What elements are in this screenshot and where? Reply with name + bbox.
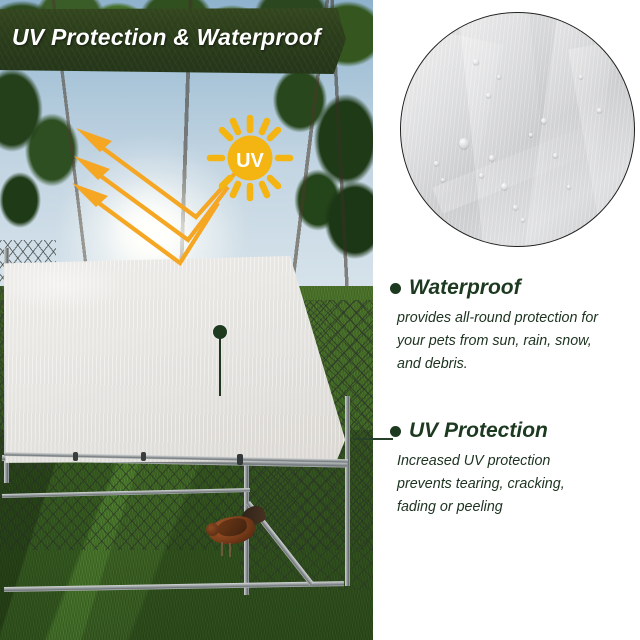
- tarp-clip-2: [141, 452, 146, 461]
- feature-uv-protection-line-3: fading or peeling: [397, 496, 640, 519]
- water-droplet: [541, 118, 547, 124]
- feature-uv-protection-line-1: Increased UV protection: [397, 450, 640, 473]
- feature-waterproof: Waterproof provides all-round protection…: [373, 276, 640, 376]
- water-droplet: [529, 133, 533, 137]
- product-photo: UV UV Protection & Waterproof: [0, 0, 373, 640]
- frame-post-right: [345, 396, 350, 586]
- callout-leader-uv: [353, 438, 393, 440]
- water-droplet: [459, 138, 469, 149]
- sun-icon: UV: [210, 118, 290, 198]
- feature-uv-protection-header: UV Protection: [373, 419, 640, 443]
- water-droplet: [441, 178, 445, 182]
- water-droplet: [597, 108, 602, 113]
- bullet-icon: [390, 426, 401, 437]
- water-droplet: [567, 185, 571, 189]
- feature-waterproof-body: provides all-round protection for your p…: [373, 307, 640, 376]
- water-droplet: [501, 183, 508, 190]
- chicken: [205, 505, 263, 553]
- tarp-clip-1: [73, 452, 78, 461]
- chicken-leg-left: [221, 542, 223, 556]
- water-droplet: [479, 173, 484, 178]
- waterproof-fabric-swatch: [400, 12, 635, 247]
- feature-uv-protection-title: UV Protection: [409, 419, 548, 443]
- callout-leader-tarp: [219, 338, 221, 396]
- tarp-clip-3: [237, 454, 243, 465]
- feature-uv-protection-body: Increased UV protection prevents tearing…: [373, 450, 640, 519]
- chicken-head: [206, 523, 219, 536]
- water-droplet: [489, 155, 495, 161]
- water-droplet: [513, 205, 518, 210]
- uv-arrow-heads: [72, 128, 112, 207]
- feature-waterproof-line-1: provides all-round protection for: [397, 307, 640, 330]
- chicken-leg-right: [229, 543, 231, 557]
- water-droplet: [521, 218, 525, 222]
- water-droplet: [434, 161, 439, 166]
- feature-uv-protection: UV Protection Increased UV protection pr…: [373, 419, 640, 519]
- feature-uv-protection-line-2: prevents tearing, cracking,: [397, 473, 640, 496]
- callout-dot-tarp: [213, 325, 227, 339]
- sun-uv-label: UV: [236, 150, 264, 172]
- feature-waterproof-line-2: your pets from sun, rain, snow,: [397, 330, 640, 353]
- water-droplet: [579, 75, 583, 79]
- bullet-icon: [390, 283, 401, 294]
- water-droplet: [553, 153, 558, 158]
- fabric-weave: [401, 13, 634, 246]
- feature-waterproof-title: Waterproof: [409, 276, 521, 300]
- feature-waterproof-header: Waterproof: [373, 276, 640, 300]
- product-feature-infographic: UV UV Protection & Waterproof: [0, 0, 640, 640]
- feature-waterproof-line-3: and debris.: [397, 353, 640, 376]
- water-droplet: [486, 93, 491, 98]
- feature-text-panel: Waterproof provides all-round protection…: [373, 0, 640, 640]
- uv-ray-paths: [96, 146, 238, 263]
- water-droplet: [473, 59, 479, 65]
- headline-title: UV Protection & Waterproof: [12, 24, 342, 51]
- water-droplet: [497, 75, 501, 79]
